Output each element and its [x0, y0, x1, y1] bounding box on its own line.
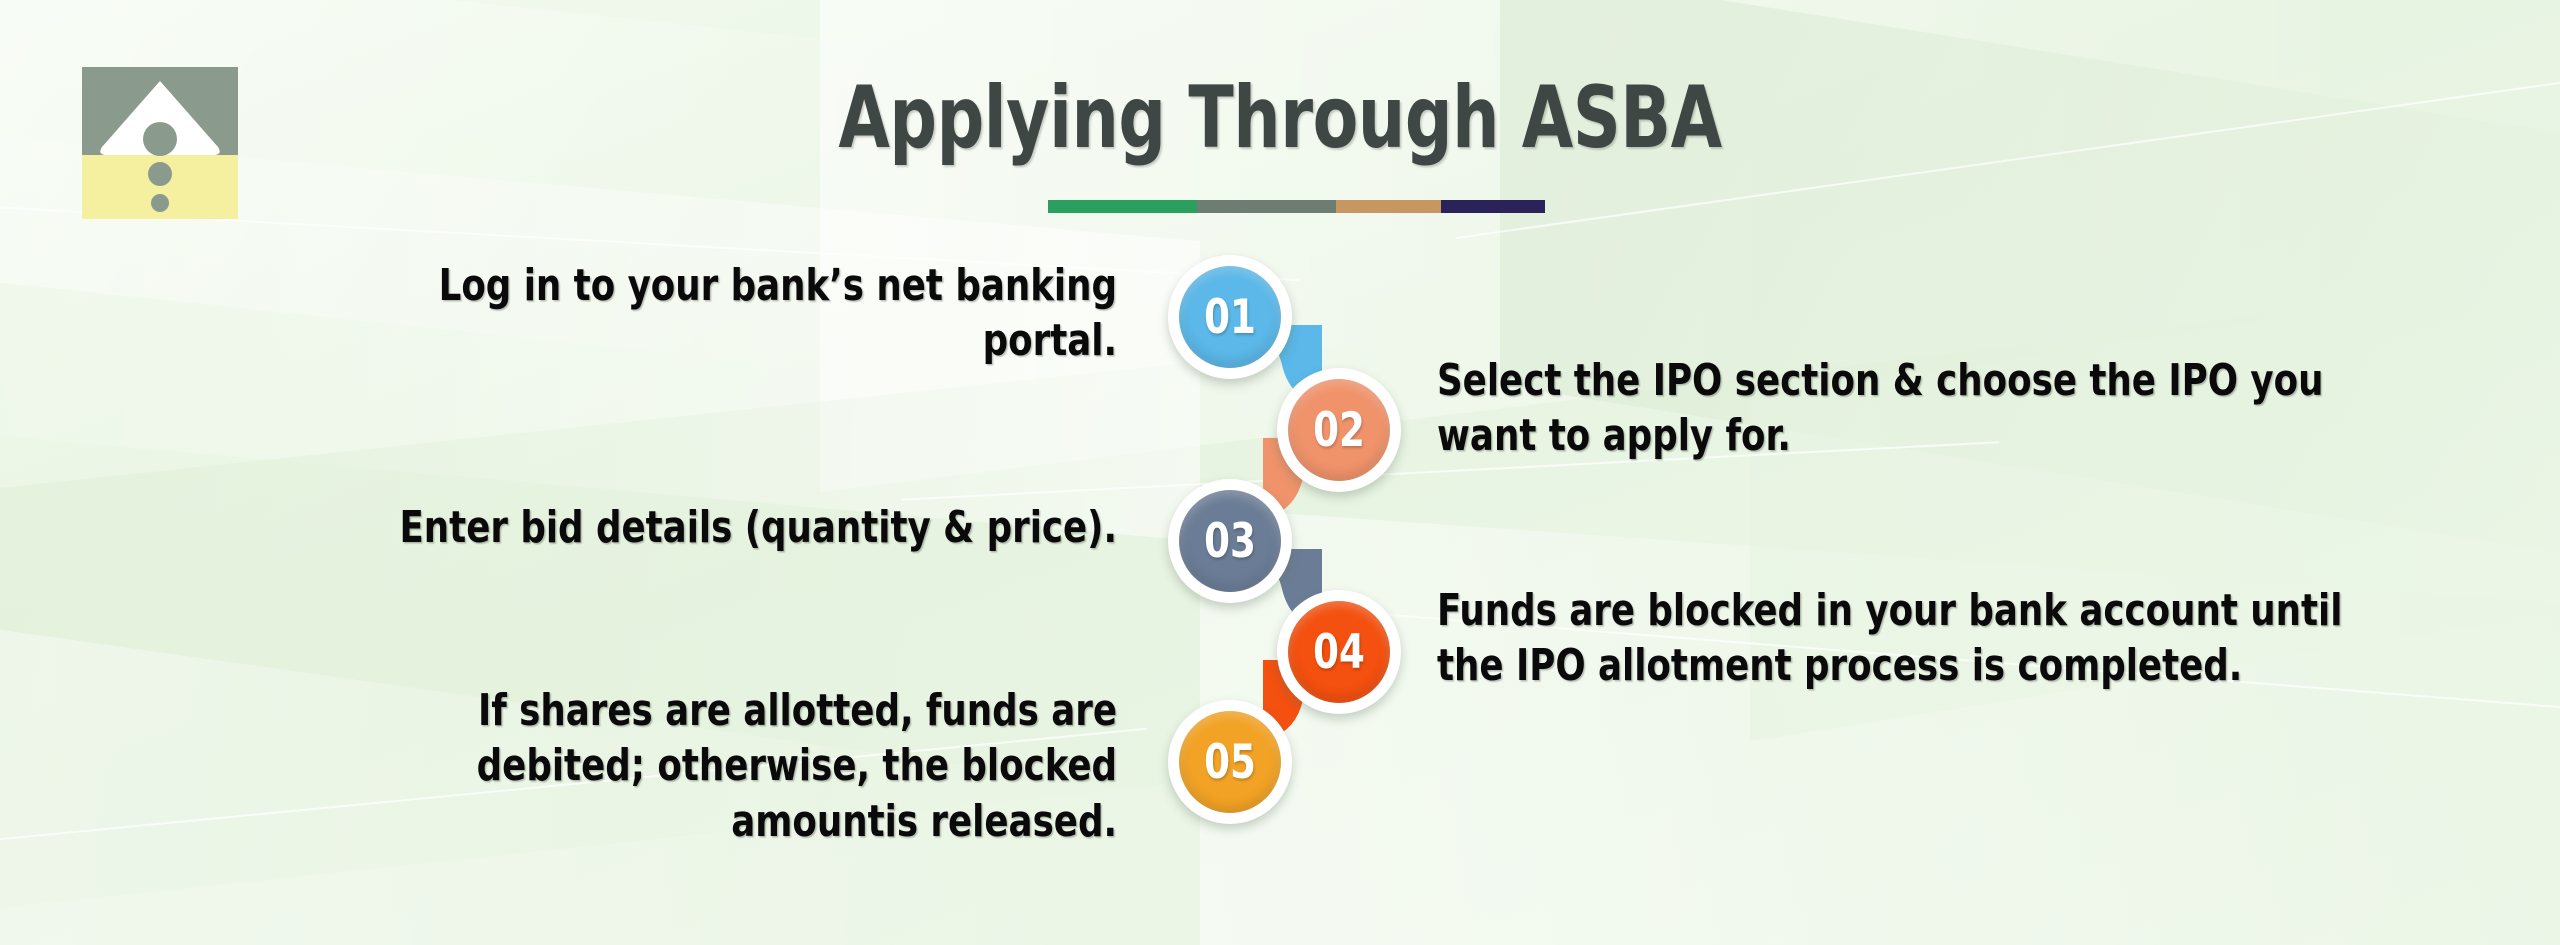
step-circle-04[interactable]: 04 — [1277, 590, 1401, 714]
step-circle-05[interactable]: 05 — [1168, 700, 1292, 824]
step-text-02: Select the IPO section & choose the IPO … — [1437, 353, 2427, 464]
divider-segment-navy — [1441, 200, 1545, 213]
step-circle-03[interactable]: 03 — [1168, 479, 1292, 603]
step-text-01: Log in to your bank’s net banking portal… — [415, 258, 1117, 369]
step-number-label: 04 — [1284, 590, 1393, 714]
step-number-label: 02 — [1284, 368, 1393, 492]
step-circle-01[interactable]: 01 — [1168, 255, 1292, 379]
infographic-slide: Applying Through ASBA 01Log in to your b… — [0, 0, 2560, 945]
step-text-03: Enter bid details (quantity & price). — [172, 500, 1117, 555]
step-number-label: 01 — [1175, 255, 1284, 379]
page-title: Applying Through ASBA — [179, 68, 2381, 168]
step-number-label: 03 — [1175, 479, 1284, 603]
title-divider-bar — [1048, 200, 1545, 213]
step-text-04: Funds are blocked in your bank account u… — [1437, 583, 2391, 694]
step-circle-02[interactable]: 02 — [1277, 368, 1401, 492]
divider-segment-gray-green — [1197, 200, 1336, 213]
divider-segment-green — [1048, 200, 1197, 213]
step-number-label: 05 — [1175, 700, 1284, 824]
step-text-05: If shares are allotted, funds are debite… — [343, 683, 1117, 849]
divider-segment-tan — [1336, 200, 1440, 213]
